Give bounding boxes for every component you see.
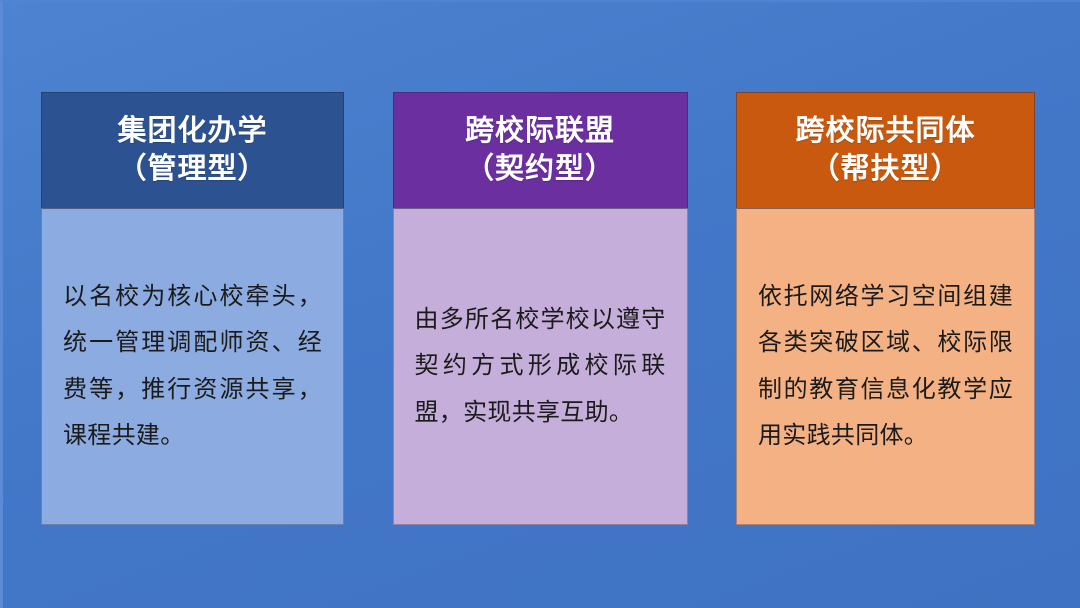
card-header-group-run-school: 集团化办学 （管理型） bbox=[41, 92, 344, 208]
card-header-inter-school-alliance: 跨校际联盟 （契约型） bbox=[393, 92, 688, 208]
card-inter-school-community[interactable]: 跨校际共同体 （帮扶型） 依托网络学习空间组建各类突破区域、校际限制的教育信息化… bbox=[736, 92, 1035, 525]
card-group-run-school[interactable]: 集团化办学 （管理型） 以名校为核心校牵头，统一管理调配师资、经费等，推行资源共… bbox=[41, 92, 344, 525]
card-body-group-run-school: 以名校为核心校牵头，统一管理调配师资、经费等，推行资源共享，课程共建。 bbox=[41, 208, 344, 525]
card-header-line-2: （管理型） bbox=[117, 151, 267, 189]
card-header-line-1: 跨校际联盟 bbox=[465, 113, 615, 151]
card-body-text: 依托网络学习空间组建各类突破区域、校际限制的教育信息化教学应用实践共同体。 bbox=[737, 274, 1034, 458]
card-group: 集团化办学 （管理型） 以名校为核心校牵头，统一管理调配师资、经费等，推行资源共… bbox=[41, 92, 1035, 525]
card-body-inter-school-alliance: 由多所名校学校以遵守契约方式形成校际联盟，实现共享互助。 bbox=[393, 208, 688, 525]
slide-canvas: 集团化办学 （管理型） 以名校为核心校牵头，统一管理调配师资、经费等，推行资源共… bbox=[0, 0, 1080, 608]
card-header-text: 集团化办学 （管理型） bbox=[117, 113, 267, 188]
card-inter-school-alliance[interactable]: 跨校际联盟 （契约型） 由多所名校学校以遵守契约方式形成校际联盟，实现共享互助。 bbox=[393, 92, 688, 525]
card-body-inter-school-community: 依托网络学习空间组建各类突破区域、校际限制的教育信息化教学应用实践共同体。 bbox=[736, 208, 1035, 525]
card-header-inter-school-community: 跨校际共同体 （帮扶型） bbox=[736, 92, 1035, 208]
card-header-line-2: （帮扶型） bbox=[795, 151, 975, 189]
card-body-text: 由多所名校学校以遵守契约方式形成校际联盟，实现共享互助。 bbox=[394, 297, 687, 435]
card-header-text: 跨校际共同体 （帮扶型） bbox=[795, 113, 975, 188]
card-header-line-2: （契约型） bbox=[465, 151, 615, 189]
card-header-line-1: 跨校际共同体 bbox=[795, 113, 975, 151]
card-header-line-1: 集团化办学 bbox=[117, 113, 267, 151]
card-header-text: 跨校际联盟 （契约型） bbox=[465, 113, 615, 188]
card-body-text: 以名校为核心校牵头，统一管理调配师资、经费等，推行资源共享，课程共建。 bbox=[42, 274, 343, 458]
